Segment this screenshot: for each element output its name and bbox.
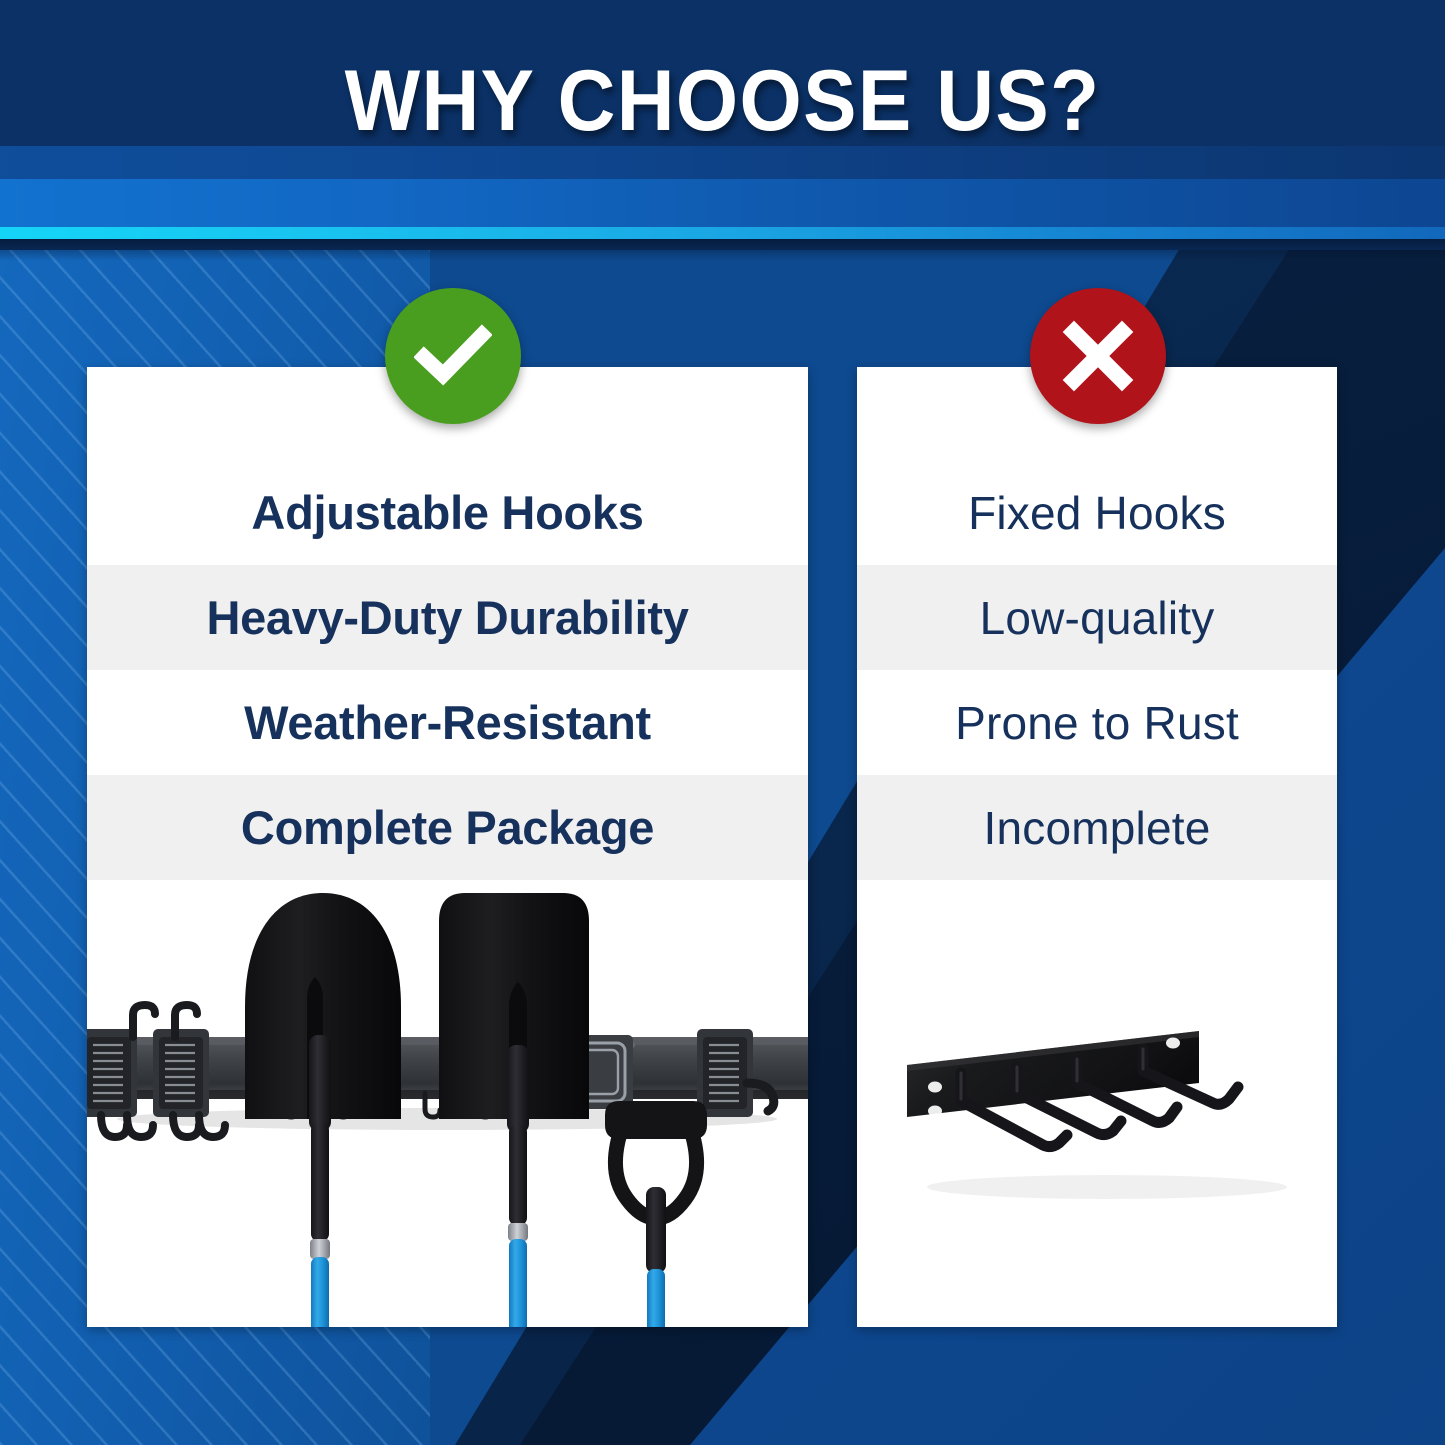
- header-accent-band-cyan: [0, 227, 1445, 239]
- cons-row: Prone to Rust: [857, 670, 1337, 775]
- cons-row: Incomplete: [857, 775, 1337, 880]
- close-icon: [1061, 319, 1135, 393]
- cons-row-label: Prone to Rust: [955, 696, 1239, 750]
- adjustable-tool-rail-image: [87, 887, 808, 1327]
- cons-row-label: Low-quality: [980, 591, 1215, 645]
- header-band-shadow: [0, 239, 1445, 261]
- pros-row: Adjustable Hooks: [87, 460, 808, 565]
- page-title: WHY CHOOSE US?: [51, 52, 1395, 151]
- pros-row-label: Complete Package: [241, 800, 654, 855]
- comparison-infographic: WHY CHOOSE US? Adjustable Hooks Heavy-Du…: [0, 0, 1445, 1445]
- cons-row: Fixed Hooks: [857, 460, 1337, 565]
- pros-row-label: Weather-Resistant: [244, 695, 651, 750]
- pros-row-list: Adjustable Hooks Heavy-Duty Durability W…: [87, 460, 808, 880]
- cons-row-label: Incomplete: [983, 801, 1210, 855]
- pros-card: Adjustable Hooks Heavy-Duty Durability W…: [87, 367, 808, 1327]
- pros-row: Complete Package: [87, 775, 808, 880]
- fixed-hook-rack-image: [857, 987, 1337, 1237]
- pros-row-label: Heavy-Duty Durability: [206, 590, 688, 645]
- pros-row-label: Adjustable Hooks: [251, 485, 643, 540]
- pros-row: Heavy-Duty Durability: [87, 565, 808, 670]
- check-circle-badge: [385, 288, 521, 424]
- cons-row: Low-quality: [857, 565, 1337, 670]
- cross-circle-badge: [1030, 288, 1166, 424]
- cons-row-list: Fixed Hooks Low-quality Prone to Rust In…: [857, 460, 1337, 880]
- header-accent-band-2: [0, 179, 1445, 227]
- pros-row: Weather-Resistant: [87, 670, 808, 775]
- check-icon: [414, 317, 492, 395]
- cons-row-label: Fixed Hooks: [968, 486, 1226, 540]
- cons-card: Fixed Hooks Low-quality Prone to Rust In…: [857, 367, 1337, 1327]
